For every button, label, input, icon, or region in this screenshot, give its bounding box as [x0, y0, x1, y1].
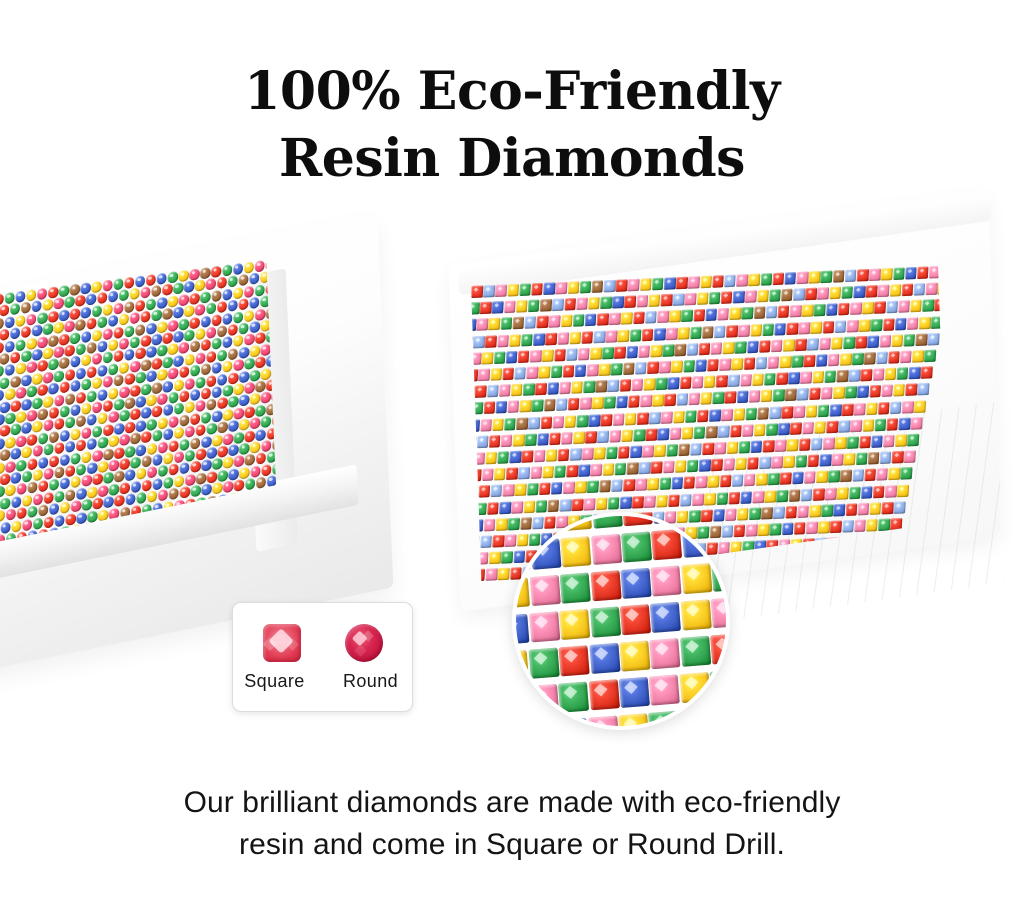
drill [562, 365, 574, 377]
drill [125, 469, 136, 481]
headline-line-1: 100% Eco-Friendly [0, 58, 1024, 125]
drill [587, 364, 599, 376]
drill [234, 455, 245, 467]
drill [190, 485, 201, 497]
drill [179, 318, 190, 330]
drill [728, 491, 740, 503]
drill [891, 334, 903, 346]
drill [876, 468, 888, 480]
drill [136, 468, 147, 480]
drill [5, 412, 16, 424]
drill [54, 394, 65, 406]
drill [855, 453, 867, 465]
drill [619, 640, 650, 671]
drill [805, 288, 817, 300]
drill [571, 381, 583, 393]
drill [492, 301, 504, 313]
drill [173, 282, 184, 294]
drill [87, 510, 98, 522]
drill [563, 482, 575, 494]
drill [697, 409, 709, 421]
drill [573, 431, 585, 443]
drill [228, 348, 239, 360]
drill [514, 367, 526, 379]
drill [141, 383, 152, 395]
drill [0, 521, 11, 533]
drill [217, 325, 228, 337]
drill [529, 611, 560, 642]
drill [836, 370, 848, 382]
drill [114, 471, 125, 483]
drill [64, 344, 75, 356]
drill [599, 363, 611, 375]
drill [757, 407, 769, 419]
drill [54, 370, 65, 382]
drill [518, 350, 530, 362]
drill [481, 352, 493, 364]
drill [608, 497, 620, 509]
drill [53, 322, 64, 334]
drill [42, 323, 53, 335]
drill [886, 301, 898, 313]
drill [635, 362, 647, 374]
drill [21, 446, 32, 458]
drill [108, 459, 119, 471]
drill [200, 291, 211, 303]
drill [119, 337, 130, 349]
drill [261, 440, 272, 452]
drill [645, 311, 657, 323]
drill [528, 417, 540, 429]
drill [184, 401, 195, 413]
drill [810, 321, 822, 333]
drill [27, 506, 38, 518]
drill [222, 264, 233, 276]
drill [211, 338, 222, 350]
drill [233, 263, 244, 275]
drill [65, 513, 76, 525]
drill [151, 309, 162, 321]
drill [616, 279, 628, 291]
drill [4, 316, 15, 328]
drill [70, 380, 81, 392]
drill [113, 278, 124, 290]
drill [70, 308, 81, 320]
drill [48, 407, 59, 419]
drill [762, 440, 774, 452]
drill [114, 446, 125, 458]
drill [201, 484, 212, 496]
drill [60, 502, 71, 514]
drill [118, 289, 129, 301]
drill [250, 441, 261, 453]
drill [621, 531, 652, 562]
drill [788, 372, 800, 384]
drill [806, 522, 818, 534]
drill [617, 329, 629, 341]
drill [909, 367, 921, 379]
drill [880, 452, 892, 464]
drill [487, 385, 499, 397]
drill [869, 385, 881, 397]
drill [528, 648, 559, 679]
drill [10, 303, 21, 315]
drill [679, 672, 710, 703]
drill [507, 401, 519, 413]
drill [523, 383, 535, 395]
drill [749, 507, 761, 519]
drill [905, 384, 917, 396]
drill [919, 316, 931, 328]
drill [5, 364, 16, 376]
drill [201, 435, 212, 447]
drill [846, 319, 858, 331]
drill [684, 293, 696, 305]
drill [0, 414, 5, 426]
drill [21, 326, 32, 338]
drill [605, 330, 617, 342]
drill [152, 406, 163, 418]
drill [103, 376, 114, 388]
drill [250, 465, 261, 477]
drill [168, 319, 179, 331]
drill [638, 345, 650, 357]
drill [716, 492, 728, 504]
drill [651, 529, 682, 560]
drill [496, 518, 508, 530]
drill [206, 326, 217, 338]
drill [75, 319, 86, 331]
drill [620, 568, 651, 599]
drill [819, 454, 831, 466]
drill [212, 434, 223, 446]
drill [676, 277, 688, 289]
drill [92, 401, 103, 413]
drill [735, 341, 747, 353]
drill [15, 363, 26, 375]
drill [124, 397, 135, 409]
drill [507, 284, 519, 296]
drill [867, 335, 879, 347]
drill [645, 428, 657, 440]
drill [504, 301, 516, 313]
drill [48, 358, 59, 370]
drill [525, 433, 537, 445]
drill [664, 394, 676, 406]
drill [640, 278, 652, 290]
drill [27, 409, 38, 421]
drill [135, 347, 146, 359]
drill [883, 318, 895, 330]
drill [782, 523, 794, 535]
drill [11, 472, 22, 484]
drill [579, 281, 591, 293]
drill [532, 400, 544, 412]
drill [195, 424, 206, 436]
drill [489, 552, 501, 564]
drill [0, 365, 4, 377]
drill [612, 296, 624, 308]
drill [652, 395, 664, 407]
drill [48, 334, 59, 346]
drill [680, 493, 692, 505]
drill [771, 456, 783, 468]
drill [223, 457, 234, 469]
drill [32, 445, 43, 457]
drill [590, 607, 621, 638]
drill [486, 569, 498, 581]
drill [499, 384, 511, 396]
drill [59, 453, 70, 465]
drill [707, 359, 719, 371]
drill [498, 568, 510, 580]
drill [804, 472, 816, 484]
drill [255, 428, 266, 440]
drill [97, 436, 108, 448]
drill [838, 420, 850, 432]
drill [32, 324, 43, 336]
drill [649, 674, 680, 705]
drill [53, 346, 64, 358]
drill [898, 301, 910, 313]
drill [196, 448, 207, 460]
drill [504, 534, 516, 546]
drill [141, 359, 152, 371]
drill [108, 291, 119, 303]
drill [773, 506, 785, 518]
drill [130, 408, 141, 420]
drill [511, 384, 523, 396]
drill [190, 437, 201, 449]
drill [102, 303, 113, 315]
drill [238, 274, 249, 286]
drill [255, 453, 266, 465]
drill [707, 476, 719, 488]
drill [702, 442, 714, 454]
drill [683, 360, 695, 372]
drill [227, 300, 238, 312]
drill [740, 374, 752, 386]
drill [75, 343, 86, 355]
drill [179, 390, 190, 402]
drill [654, 445, 666, 457]
drill [0, 462, 5, 474]
drill [898, 417, 910, 429]
drill [762, 323, 774, 335]
page-title: 100% Eco-Friendly Resin Diamonds [0, 58, 1024, 192]
drill [793, 405, 805, 417]
drill [914, 400, 926, 412]
drill [706, 426, 718, 438]
drill [255, 356, 266, 368]
drill [22, 518, 33, 530]
drill [206, 423, 217, 435]
drill [43, 371, 54, 383]
drill [890, 518, 902, 530]
drill [575, 481, 587, 493]
drill [33, 517, 44, 529]
drill [797, 388, 809, 400]
drill [65, 465, 76, 477]
drill [865, 285, 877, 297]
drill [5, 436, 16, 448]
drill [200, 315, 211, 327]
drill [163, 428, 174, 440]
drill [21, 374, 32, 386]
drill [206, 375, 217, 387]
drill [501, 551, 513, 563]
drill [633, 312, 645, 324]
drill [59, 381, 70, 393]
caption-line-1: Our brilliant diamonds are made with eco… [0, 782, 1024, 824]
drill [59, 357, 70, 369]
drill [912, 350, 924, 362]
drill [690, 326, 702, 338]
drill [201, 363, 212, 375]
drill [255, 332, 266, 344]
drill [874, 302, 886, 314]
drill [0, 353, 10, 365]
drill [195, 280, 206, 292]
drill [16, 435, 27, 447]
drill [576, 414, 588, 426]
drill [48, 383, 59, 395]
drill [92, 353, 103, 365]
drill [717, 308, 729, 320]
drill [733, 291, 745, 303]
drill [135, 299, 146, 311]
drill [704, 492, 716, 504]
drill [654, 328, 666, 340]
drill [162, 308, 173, 320]
drill [26, 361, 37, 373]
drill [874, 418, 886, 430]
drill [54, 466, 65, 478]
drill [173, 355, 184, 367]
drill [611, 363, 623, 375]
drill [152, 430, 163, 442]
drill [167, 271, 178, 283]
drill [60, 477, 71, 489]
drill [757, 290, 769, 302]
drill [179, 366, 190, 378]
drill [146, 346, 157, 358]
drill [817, 404, 829, 416]
drill [644, 495, 656, 507]
drill [37, 408, 48, 420]
drill [609, 313, 621, 325]
drill [97, 412, 108, 424]
drill [904, 451, 916, 463]
drill [512, 650, 529, 681]
drill [548, 315, 560, 327]
drill [0, 449, 10, 461]
drill [680, 599, 711, 630]
drill [828, 470, 840, 482]
drill [244, 358, 255, 370]
drill [829, 404, 841, 416]
drill [854, 403, 866, 415]
drill [217, 373, 228, 385]
drill [530, 539, 561, 570]
drill [211, 266, 222, 278]
drill [10, 448, 21, 460]
drill [809, 505, 821, 517]
drill [81, 378, 92, 390]
drill [478, 369, 490, 381]
drill [809, 388, 821, 400]
drill [596, 497, 608, 509]
drill [174, 427, 185, 439]
drill [621, 312, 633, 324]
drill [245, 478, 256, 490]
drill [855, 336, 867, 348]
drill [583, 381, 595, 393]
drill [10, 375, 21, 387]
drill [559, 382, 571, 394]
drill [492, 418, 504, 430]
drill [477, 435, 489, 447]
drill [542, 466, 554, 478]
drill [591, 534, 622, 565]
drill [752, 374, 764, 386]
drill [797, 505, 809, 517]
drill [580, 398, 592, 410]
drill [571, 498, 583, 510]
drill [799, 438, 811, 450]
drill [745, 524, 757, 536]
drill [178, 270, 189, 282]
drill [636, 295, 648, 307]
drill [21, 422, 32, 434]
drill [249, 345, 260, 357]
drill [119, 434, 130, 446]
drill [15, 339, 26, 351]
drill [668, 494, 680, 506]
drill [764, 373, 776, 385]
headline-line-2: Resin Diamonds [0, 125, 1024, 192]
drill [146, 322, 157, 334]
drill [184, 329, 195, 341]
drill [190, 461, 201, 473]
drill [822, 321, 834, 333]
drill [108, 387, 119, 399]
drill [778, 306, 790, 318]
drill [559, 645, 590, 676]
drill [76, 487, 87, 499]
drill [480, 302, 492, 314]
drill [130, 480, 141, 492]
drill [657, 428, 669, 440]
drill [685, 410, 697, 422]
drill [119, 458, 130, 470]
drill [38, 480, 49, 492]
drill [521, 450, 533, 462]
drill [741, 307, 753, 319]
drill [502, 368, 514, 380]
drill [119, 362, 130, 374]
drill [228, 420, 239, 432]
drill [540, 416, 552, 428]
drill [223, 433, 234, 445]
drill [831, 337, 843, 349]
drill [905, 267, 917, 279]
drill [873, 485, 885, 497]
drill [103, 448, 114, 460]
drill [790, 422, 802, 434]
drill [781, 406, 793, 418]
drill [0, 305, 9, 317]
